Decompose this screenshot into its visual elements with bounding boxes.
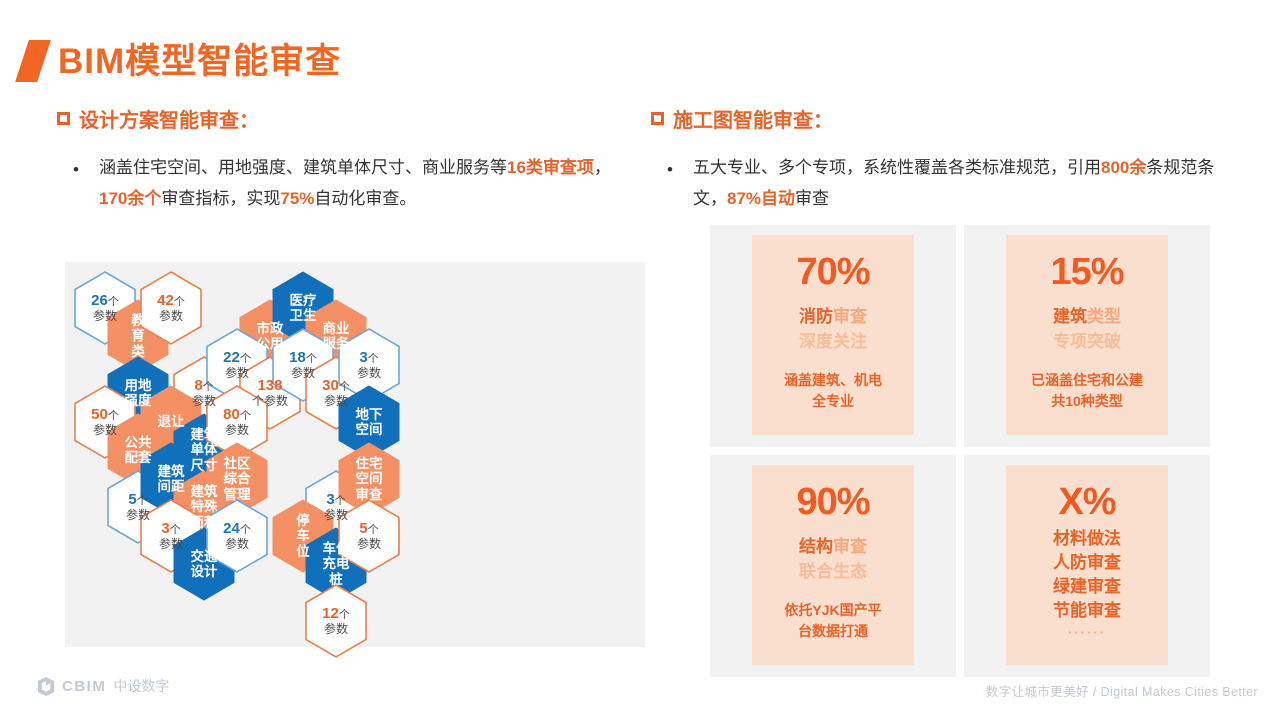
hex-label-line: 地下 [356, 407, 383, 422]
stat-card[interactable]: X%材料做法人防审查绿建审查节能审查······ [964, 455, 1210, 677]
hex-diagram: 26个参数教育类42个参数市政公用医疗卫生商业服务用地强度8个参数22个参数13… [65, 262, 645, 647]
hex-count-unit: 参数 [223, 424, 251, 437]
hex-label-line: 社区 [224, 456, 251, 471]
stat-note-line: 共10种类型 [1031, 391, 1143, 411]
hex-label: 用地强度 [119, 378, 158, 408]
hex-label-line: 住宅 [356, 456, 383, 471]
hex-label: 交通设计 [185, 549, 224, 579]
highlight-text: 16类审查项 [507, 158, 594, 177]
stat-subtitle: 结构审查联合生态 [799, 535, 867, 584]
hex-count: 30个 [322, 378, 350, 395]
hex-label-line: 综合 [224, 471, 251, 486]
hex-label: 停车位 [290, 513, 316, 558]
hex-label-line: 配套 [125, 450, 152, 465]
hex-count: 5个 [357, 521, 381, 538]
hex-label-line: 商业 [323, 321, 350, 336]
hex-label-line: 特殊 [191, 499, 218, 514]
stat-card-inner: 15%建筑类型专项突破已涵盖住宅和公建共10种类型 [1006, 235, 1168, 435]
hex-count: 8个 [192, 378, 216, 395]
stat-note-line: 已涵盖住宅和公建 [1031, 370, 1143, 390]
hex-label: 商业服务 [317, 321, 356, 351]
square-bullet-icon [651, 112, 664, 125]
hex-label: 教育类 [125, 313, 151, 358]
square-bullet-icon [57, 112, 70, 125]
stat-item: 材料做法 [1053, 527, 1121, 551]
stat-note-line: 全专业 [784, 391, 882, 411]
highlight-text: 87%自动 [727, 189, 795, 208]
hex-count: 12个 [322, 606, 350, 623]
stat-subtitle-line1: 建筑类型 [1053, 305, 1121, 330]
hex-label: 医疗卫生 [284, 293, 323, 323]
title-text: BIM模型智能审查 [58, 44, 341, 79]
hex-label: 12个参数 [316, 606, 356, 636]
hex-count-unit: 参数 [192, 395, 216, 408]
stat-note: 已涵盖住宅和公建共10种类型 [1031, 370, 1143, 411]
hex-label: 138个参数 [246, 378, 294, 408]
stat-percent: X% [1058, 483, 1115, 521]
stat-ellipsis: ······ [1053, 624, 1121, 642]
hex-cell[interactable]: 12个参数 [303, 583, 369, 659]
hex-count: 3个 [159, 521, 183, 538]
stat-subtitle-line2: 深度关注 [799, 330, 867, 355]
stat-card[interactable]: 15%建筑类型专项突破已涵盖住宅和公建共10种类型 [964, 225, 1210, 447]
footer-tagline: 数字让城市更美好 / Digital Makes Cities Better [986, 681, 1258, 700]
body-text: 自动化审查。 [314, 189, 416, 208]
hex-label-line: 退让 [158, 414, 185, 429]
hex-label-line: 建筑 [191, 427, 218, 442]
hex-count: 50个 [91, 407, 119, 424]
stat-subtitle-line1: 消防审查 [799, 305, 867, 330]
hex-label-line: 位 [296, 544, 310, 559]
hex-label-line: 充电 [323, 556, 350, 571]
hex-label-line: 空间 [356, 422, 383, 437]
stat-item: 节能审查 [1053, 599, 1121, 623]
hex-count: 3个 [324, 492, 348, 509]
hex-label-line: 间距 [158, 479, 185, 494]
stat-subtitle-line2: 专项突破 [1053, 330, 1121, 355]
hex-label-line: 尺寸 [191, 458, 218, 473]
hex-label: 3个参数 [351, 350, 387, 380]
highlight-text: 170余个 [99, 189, 161, 208]
paragraph-construction: • 五大专业、多个专项，系统性覆盖各类标准规范，引用800余条规范条文，87%自… [667, 152, 1237, 215]
hex-count: 42个 [157, 293, 185, 310]
stat-note-line: 涵盖建筑、机电 [784, 370, 882, 390]
hex-label: 社区综合管理 [218, 456, 257, 501]
hex-label-line: 管理 [224, 487, 251, 502]
hex-count: 18个 [289, 350, 317, 367]
hex-label: 22个参数 [217, 350, 257, 380]
hex-count-unit: 参数 [159, 538, 183, 551]
hex-label: 24个参数 [217, 521, 257, 551]
stat-card-grid: 70%消防审查深度关注涵盖建筑、机电全专业15%建筑类型专项突破已涵盖住宅和公建… [710, 225, 1210, 673]
list-bullet: • [667, 154, 673, 185]
hex-count-unit: 参数 [91, 310, 119, 323]
page-title: BIM模型智能审查 [22, 40, 341, 82]
paragraph-construction-text: 五大专业、多个专项，系统性覆盖各类标准规范，引用800余条规范条文，87%自动审… [693, 152, 1237, 215]
footer-logo-cn: 中设数字 [113, 676, 169, 696]
hex-count: 3个 [357, 350, 381, 367]
hex-label-line: 公共 [125, 435, 152, 450]
hex-count-unit: 参数 [91, 424, 119, 437]
body-text: 涵盖住宅空间、用地强度、建筑单体尺寸、商业服务等 [99, 158, 507, 177]
stat-note-line: 依托YJK国产平 [784, 600, 881, 620]
paragraph-design-text: 涵盖住宅空间、用地强度、建筑单体尺寸、商业服务等16类审查项，170余个审查指标… [99, 152, 618, 215]
body-text: 审查 [795, 189, 829, 208]
stat-card[interactable]: 90%结构审查联合生态依托YJK国产平台数据打通 [710, 455, 956, 677]
stat-subtitle: 消防审查深度关注 [799, 305, 867, 354]
hex-label-line: 教 [131, 313, 145, 328]
stat-percent: 15% [1050, 253, 1123, 291]
hex-count: 26个 [91, 293, 119, 310]
hex-label-line: 单体 [191, 442, 218, 457]
hex-label-line: 卫生 [290, 308, 317, 323]
hex-label-line: 建筑 [191, 484, 218, 499]
hex-label-line: 育 [131, 328, 145, 343]
hex-label-line: 强度 [125, 393, 152, 408]
footer-logo-text: CBIM [62, 678, 106, 695]
hex-count-unit: 参数 [357, 538, 381, 551]
body-text: ， [594, 158, 611, 177]
body-text: 审查指标，实现 [161, 189, 280, 208]
stat-subtitle: 建筑类型专项突破 [1053, 305, 1121, 354]
hex-label: 42个参数 [151, 293, 191, 323]
body-text: 五大专业、多个专项，系统性覆盖各类标准规范，引用 [693, 158, 1101, 177]
hex-label-line: 停 [296, 513, 310, 528]
hex-label-line: 审查 [356, 487, 383, 502]
stat-percent: 70% [796, 253, 869, 291]
hex-count-unit: 参数 [289, 367, 317, 380]
hex-label-line: 公用 [257, 336, 284, 351]
hex-label: 30个参数 [316, 378, 356, 408]
hex-label-line: 服务 [323, 336, 350, 351]
hex-label-line: 交通 [191, 549, 218, 564]
stat-note: 涵盖建筑、机电全专业 [784, 370, 882, 411]
stat-card-inner: 70%消防审查深度关注涵盖建筑、机电全专业 [752, 235, 914, 435]
hex-label: 8个参数 [186, 378, 222, 408]
stat-item: 人防审查 [1053, 551, 1121, 575]
hex-label: 26个参数 [85, 293, 125, 323]
list-bullet: • [73, 154, 79, 185]
hex-label: 市政公用 [251, 321, 290, 351]
hex-label-line: 医疗 [290, 293, 317, 308]
hex-label-line: 面积 [191, 515, 218, 530]
hex-count-unit: 个参数 [252, 395, 288, 408]
stat-item-list: 材料做法人防审查绿建审查节能审查······ [1053, 527, 1121, 642]
hex-count-unit: 参数 [223, 538, 251, 551]
hex-label-line: 桩 [323, 572, 350, 587]
stat-note: 依托YJK国产平台数据打通 [784, 600, 881, 641]
stat-subtitle-line1: 结构审查 [799, 535, 867, 560]
stat-card-inner: 90%结构审查联合生态依托YJK国产平台数据打通 [752, 465, 914, 665]
section-header-construction-label: 施工图智能审查： [673, 104, 833, 133]
hex-count: 5个 [126, 492, 150, 509]
stat-item: 绿建审查 [1053, 575, 1121, 599]
hex-count: 24个 [223, 521, 251, 538]
stat-subtitle-line2: 联合生态 [799, 560, 867, 585]
section-header-design-label: 设计方案智能审查： [79, 104, 259, 133]
hex-count-unit: 参数 [357, 367, 381, 380]
hex-label-line: 车 [296, 528, 310, 543]
hex-label: 18个参数 [283, 350, 323, 380]
hex-label: 地下空间 [350, 407, 389, 437]
hex-count-unit: 参数 [322, 395, 350, 408]
stat-note-line: 台数据打通 [784, 621, 881, 641]
hex-label: 50个参数 [85, 407, 125, 437]
title-slash-icon [15, 40, 51, 82]
hex-label: 3个参数 [153, 521, 189, 551]
hex-count: 22个 [223, 350, 251, 367]
hex-label-line: 车位 [323, 541, 350, 556]
hex-label: 公共配套 [119, 435, 158, 465]
hex-count: 80个 [223, 407, 251, 424]
section-header-design: 设计方案智能审查： [57, 104, 259, 133]
hex-label: 80个参数 [217, 407, 257, 437]
paragraph-design: • 涵盖住宅空间、用地强度、建筑单体尺寸、商业服务等16类审查项，170余个审查… [73, 152, 618, 215]
hex-count-unit: 参数 [324, 509, 348, 522]
hex-count-unit: 参数 [126, 509, 150, 522]
stat-percent: 90% [796, 483, 869, 521]
hex-label-line: 设计 [191, 564, 218, 579]
highlight-text: 75% [280, 189, 314, 208]
hex-label: 5个参数 [120, 492, 156, 522]
stat-card-inner: X%材料做法人防审查绿建审查节能审查······ [1006, 465, 1168, 665]
highlight-text: 800余 [1101, 158, 1146, 177]
footer-logo: CBIM 中设数字 [38, 676, 169, 696]
hex-label-line: 类 [131, 344, 145, 359]
slide-root: BIM模型智能审查 设计方案智能审查： 施工图智能审查： • 涵盖住宅空间、用地… [0, 0, 1280, 720]
hex-label: 住宅空间审查 [350, 456, 389, 501]
hex-label: 车位充电桩 [317, 541, 356, 586]
cbim-logo-icon [38, 677, 54, 696]
section-header-construction: 施工图智能审查： [651, 104, 833, 133]
stat-card[interactable]: 70%消防审查深度关注涵盖建筑、机电全专业 [710, 225, 956, 447]
hex-label: 5个参数 [351, 521, 387, 551]
hex-label-line: 用地 [125, 378, 152, 393]
hex-count: 138 [252, 378, 288, 395]
hex-label-line: 建筑 [158, 464, 185, 479]
hex-label-line: 空间 [356, 471, 383, 486]
hex-count-unit: 参数 [322, 623, 350, 636]
hex-label-line: 市政 [257, 321, 284, 336]
hex-count-unit: 参数 [157, 310, 185, 323]
